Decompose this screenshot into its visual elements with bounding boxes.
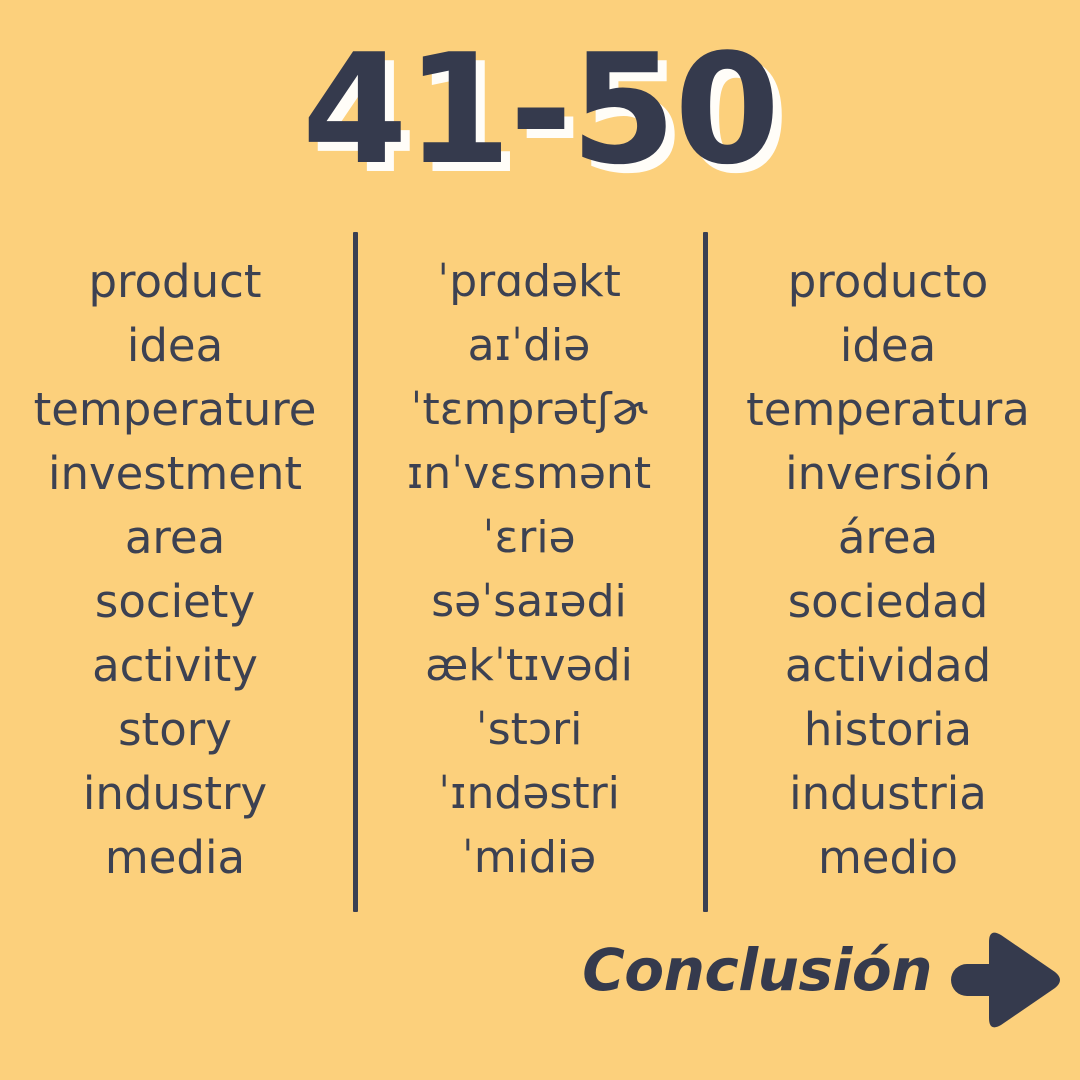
table-cell: activity: [10, 634, 340, 698]
table-cell: industry: [10, 762, 340, 826]
spanish-translation-column: productoideatemperaturainversiónáreasoci…: [718, 250, 1058, 890]
table-cell: actividad: [718, 634, 1058, 698]
table-cell: səˈsaɪədi: [368, 570, 690, 634]
table-cell: ækˈtɪvədi: [368, 634, 690, 698]
table-cell: media: [10, 826, 340, 890]
table-cell: industria: [718, 762, 1058, 826]
table-cell: idea: [10, 314, 340, 378]
table-cell: society: [10, 570, 340, 634]
table-cell: temperatura: [718, 378, 1058, 442]
table-cell: idea: [718, 314, 1058, 378]
table-cell: área: [718, 506, 1058, 570]
table-cell: ˈɛriə: [368, 506, 690, 570]
title-block: 41-50: [0, 26, 1080, 193]
table-cell: medio: [718, 826, 1058, 890]
page-title: 41-50: [302, 26, 778, 193]
table-cell: temperature: [10, 378, 340, 442]
table-cell: investment: [10, 442, 340, 506]
table-cell: ɪnˈvɛsmənt: [368, 442, 690, 506]
table-cell: producto: [718, 250, 1058, 314]
conclusion-label: Conclusión: [582, 930, 932, 1010]
table-cell: ˈstɔri: [368, 698, 690, 762]
table-cell: historia: [718, 698, 1058, 762]
table-cell: ˈtɛmprətʃɚ: [368, 378, 690, 442]
table-cell: story: [10, 698, 340, 762]
arrow-right-icon[interactable]: [945, 920, 1065, 1040]
footer-cta: Conclusión: [0, 930, 1080, 1050]
vocabulary-table: productideatemperatureinvestmentareasoci…: [0, 232, 1080, 912]
table-cell: ˈɪndəstri: [368, 762, 690, 826]
column-divider-2: [703, 232, 708, 912]
slide-root: 41-50 productideatemperatureinvestmentar…: [0, 0, 1080, 1080]
table-cell: ˈprɑdəkt: [368, 250, 690, 314]
english-word-column: productideatemperatureinvestmentareasoci…: [10, 250, 340, 890]
table-cell: inversión: [718, 442, 1058, 506]
table-cell: sociedad: [718, 570, 1058, 634]
table-cell: area: [10, 506, 340, 570]
table-cell: aɪˈdiə: [368, 314, 690, 378]
table-cell: ˈmidiə: [368, 826, 690, 890]
ipa-pronunciation-column: ˈprɑdəktaɪˈdiəˈtɛmprətʃɚɪnˈvɛsməntˈɛriəs…: [368, 250, 690, 890]
column-divider-1: [353, 232, 358, 912]
table-cell: product: [10, 250, 340, 314]
